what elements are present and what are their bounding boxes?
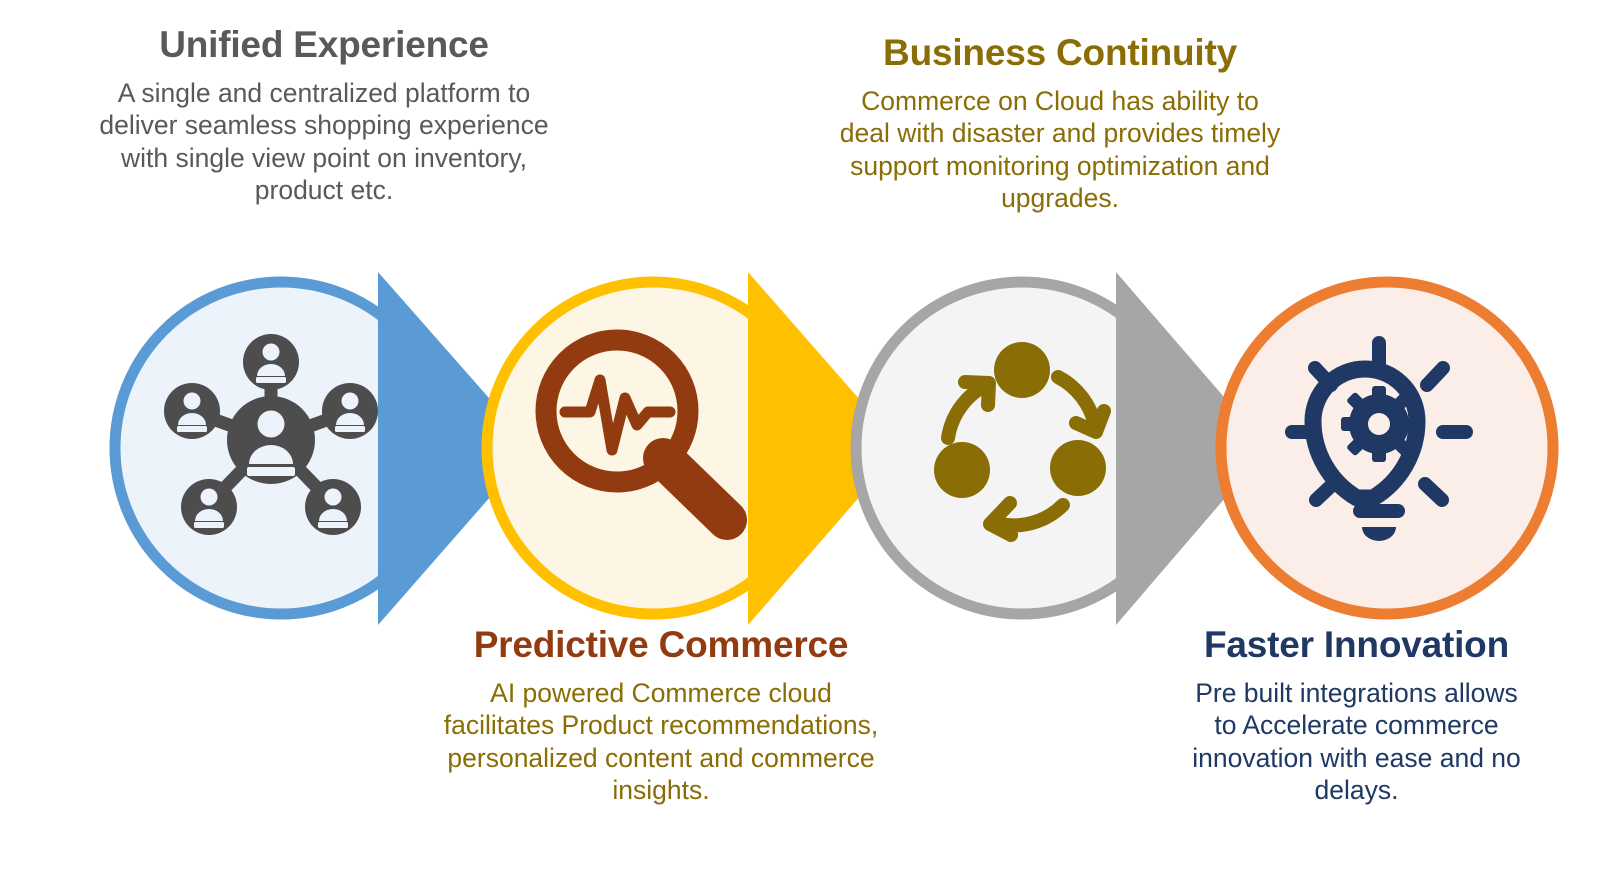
body-line: support monitoring optimization and — [790, 150, 1330, 182]
step-body-business-continuity: Commerce on Cloud has ability to deal wi… — [790, 85, 1330, 214]
body-line: innovation with ease and no — [1144, 742, 1569, 774]
infographic-canvas: Unified Experience A single and centrali… — [0, 0, 1600, 895]
body-line: personalized content and commerce — [366, 742, 956, 774]
step-body-unified-experience: A single and centralized platform to del… — [24, 77, 624, 206]
step-title-business-continuity: Business Continuity — [790, 30, 1330, 75]
body-line: delays. — [1144, 774, 1569, 806]
body-line: insights. — [366, 774, 956, 806]
body-line: to Accelerate commerce — [1144, 709, 1569, 741]
body-line: A single and centralized platform to — [24, 77, 624, 109]
step-body-faster-innovation: Pre built integrations allows to Acceler… — [1144, 677, 1569, 806]
step-title-predictive-commerce: Predictive Commerce — [366, 622, 956, 667]
step-text-faster-innovation: Faster Innovation Pre built integrations… — [1144, 622, 1569, 806]
body-line: with single view point on inventory, — [24, 142, 624, 174]
step-title-faster-innovation: Faster Innovation — [1144, 622, 1569, 667]
body-line: product etc. — [24, 174, 624, 206]
step-body-predictive-commerce: AI powered Commerce cloud facilitates Pr… — [366, 677, 956, 806]
circle-faster-innovation[interactable] — [1221, 282, 1553, 614]
body-line: AI powered Commerce cloud — [366, 677, 956, 709]
step-text-predictive-commerce: Predictive Commerce AI powered Commerce … — [366, 622, 956, 806]
step-circle-faster-innovation[interactable] — [1221, 282, 1553, 614]
body-line: deal with disaster and provides timely — [790, 117, 1330, 149]
step-text-business-continuity: Business Continuity Commerce on Cloud ha… — [790, 30, 1330, 214]
body-line: facilitates Product recommendations, — [366, 709, 956, 741]
step-text-unified-experience: Unified Experience A single and centrali… — [24, 22, 624, 206]
body-line: Commerce on Cloud has ability to — [790, 85, 1330, 117]
step-title-unified-experience: Unified Experience — [24, 22, 624, 67]
body-line: upgrades. — [790, 182, 1330, 214]
body-line: Pre built integrations allows — [1144, 677, 1569, 709]
body-line: deliver seamless shopping experience — [24, 109, 624, 141]
